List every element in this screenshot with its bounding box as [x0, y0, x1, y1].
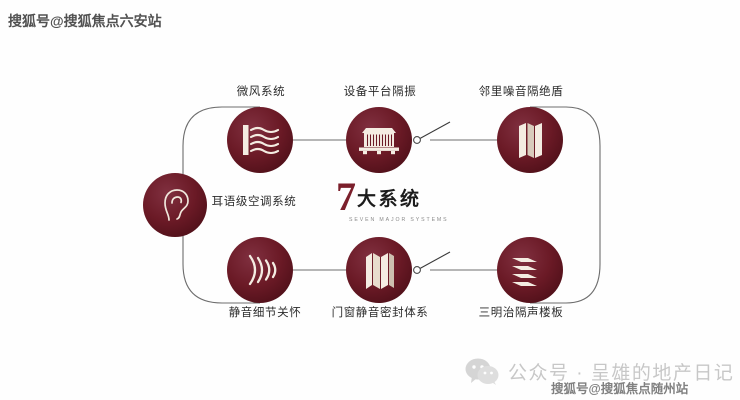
tick-line-bottom [419, 252, 450, 269]
node-quiet-details-care[interactable] [227, 237, 293, 303]
node-window-door-seal-system[interactable] [346, 237, 412, 303]
window-book-icon [366, 253, 394, 289]
node-whisper-ac[interactable] [143, 173, 207, 237]
center-logo-row: 7 大系统 [336, 176, 452, 214]
center-logo-cn: 大系统 [357, 188, 422, 214]
wall-layers-icon [519, 123, 542, 158]
label-window-door-seal-system: 门窗静音密封体系 [332, 304, 429, 320]
tick-node-bottom [414, 267, 421, 274]
machine-platform-icon [359, 128, 399, 154]
center-logo-subtitle: SEVEN MAJOR SYSTEMS [336, 217, 452, 224]
center-logo-number: 7 [336, 180, 355, 214]
node-circle [143, 173, 207, 237]
node-sandwich-acoustic-slab[interactable] [497, 237, 563, 303]
label-equipment-platform-isolation: 设备平台隔振 [344, 83, 417, 99]
tick-node-top [414, 137, 421, 144]
center-logo: 7 大系统 SEVEN MAJOR SYSTEMS [336, 176, 452, 232]
watermark-bottom: 搜狐号@搜狐焦点随州站 [551, 378, 688, 397]
node-neighbor-noise-shield[interactable] [497, 107, 563, 173]
node-circle [227, 107, 293, 173]
node-circle [227, 237, 293, 303]
tick-line-top [419, 122, 450, 139]
label-sandwich-acoustic-slab: 三明治隔声楼板 [479, 304, 564, 320]
node-equipment-platform-isolation[interactable] [346, 107, 412, 173]
label-whisper-ac: 耳语级空调系统 [212, 193, 297, 209]
wechat-icon [465, 358, 499, 385]
label-neighbor-noise-shield: 邻里噪音隔绝盾 [479, 83, 564, 99]
label-quiet-details-care: 静音细节关怀 [229, 304, 302, 320]
label-breeze-system: 微风系统 [237, 83, 285, 99]
node-breeze-system[interactable] [227, 107, 293, 173]
infographic-canvas: 搜狐号@搜狐焦点六安站 [0, 0, 740, 400]
